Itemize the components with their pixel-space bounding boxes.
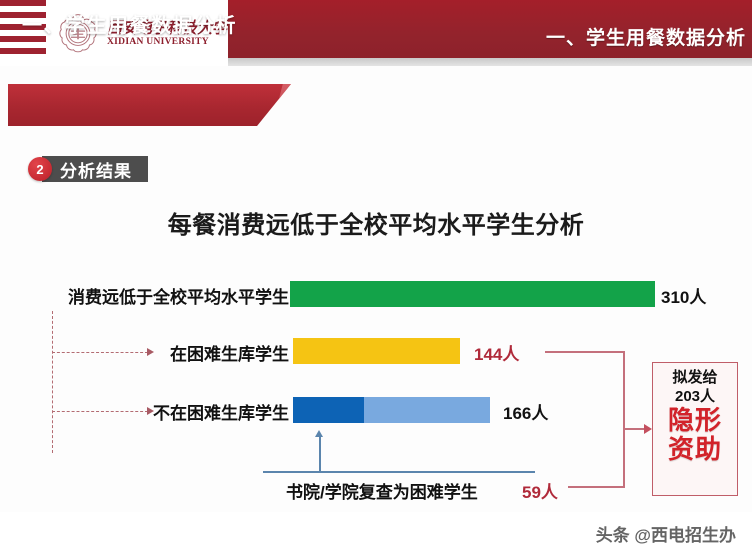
result-box-highlight-2: 资助 [668, 435, 722, 464]
bar-row-1 [290, 281, 655, 307]
footer-watermark: 头条 @西电招生办 [596, 521, 736, 546]
annotation-underline [263, 471, 535, 473]
result-box-highlight-1: 隐形 [668, 406, 722, 435]
dashed-bracket-arrow-2 [147, 407, 154, 415]
bar-row-3-segment-remaining [364, 397, 490, 423]
annotation-arrow [315, 430, 323, 437]
dashed-bracket-branch-2 [52, 411, 148, 412]
bar-value-row-1: 310人 [661, 283, 706, 308]
bar-label-row-2: 在困难生库学生 [170, 340, 289, 365]
bar-value-row-3: 166人 [503, 399, 548, 424]
bar-row-3 [293, 397, 490, 423]
connector-from-59 [568, 486, 625, 488]
bar-value-row-2: 144人 [474, 340, 519, 365]
result-box-line-2: 203人 [675, 387, 715, 406]
annotation-text: 书院/学院复查为困难学生 [286, 478, 478, 503]
chart-area: 消费远低于全校平均水平学生 310人 在困难生库学生 144人 不在困难生库学生… [0, 0, 752, 558]
connector-result-arrow [644, 424, 652, 434]
bar-row-3-segment-reviewed [293, 397, 364, 423]
connector-vertical-merge [623, 351, 625, 488]
annotation-value: 59人 [522, 478, 558, 503]
connector-to-result-box [623, 428, 645, 430]
result-box-line-1: 拟发给 [672, 368, 717, 387]
result-box: 拟发给 203人 隐形 资助 [652, 362, 738, 496]
bar-label-row-3: 不在困难生库学生 [153, 399, 289, 424]
bar-row-2 [293, 338, 460, 364]
connector-from-144 [545, 351, 625, 353]
dashed-bracket-branch-1 [52, 352, 148, 353]
annotation-leader-line [319, 437, 321, 471]
slide-footer: 头条 @西电招生办 [0, 512, 752, 558]
dashed-bracket-arrow-1 [147, 348, 154, 356]
dashed-bracket-vertical [52, 311, 53, 453]
subsection-number: 2 [28, 157, 52, 181]
bar-label-row-1: 消费远低于全校平均水平学生 [68, 283, 289, 308]
slide-canvas: 西安电子科技大学 XIDIAN UNIVERSITY 一、学生用餐数据分析 一、… [0, 0, 752, 558]
